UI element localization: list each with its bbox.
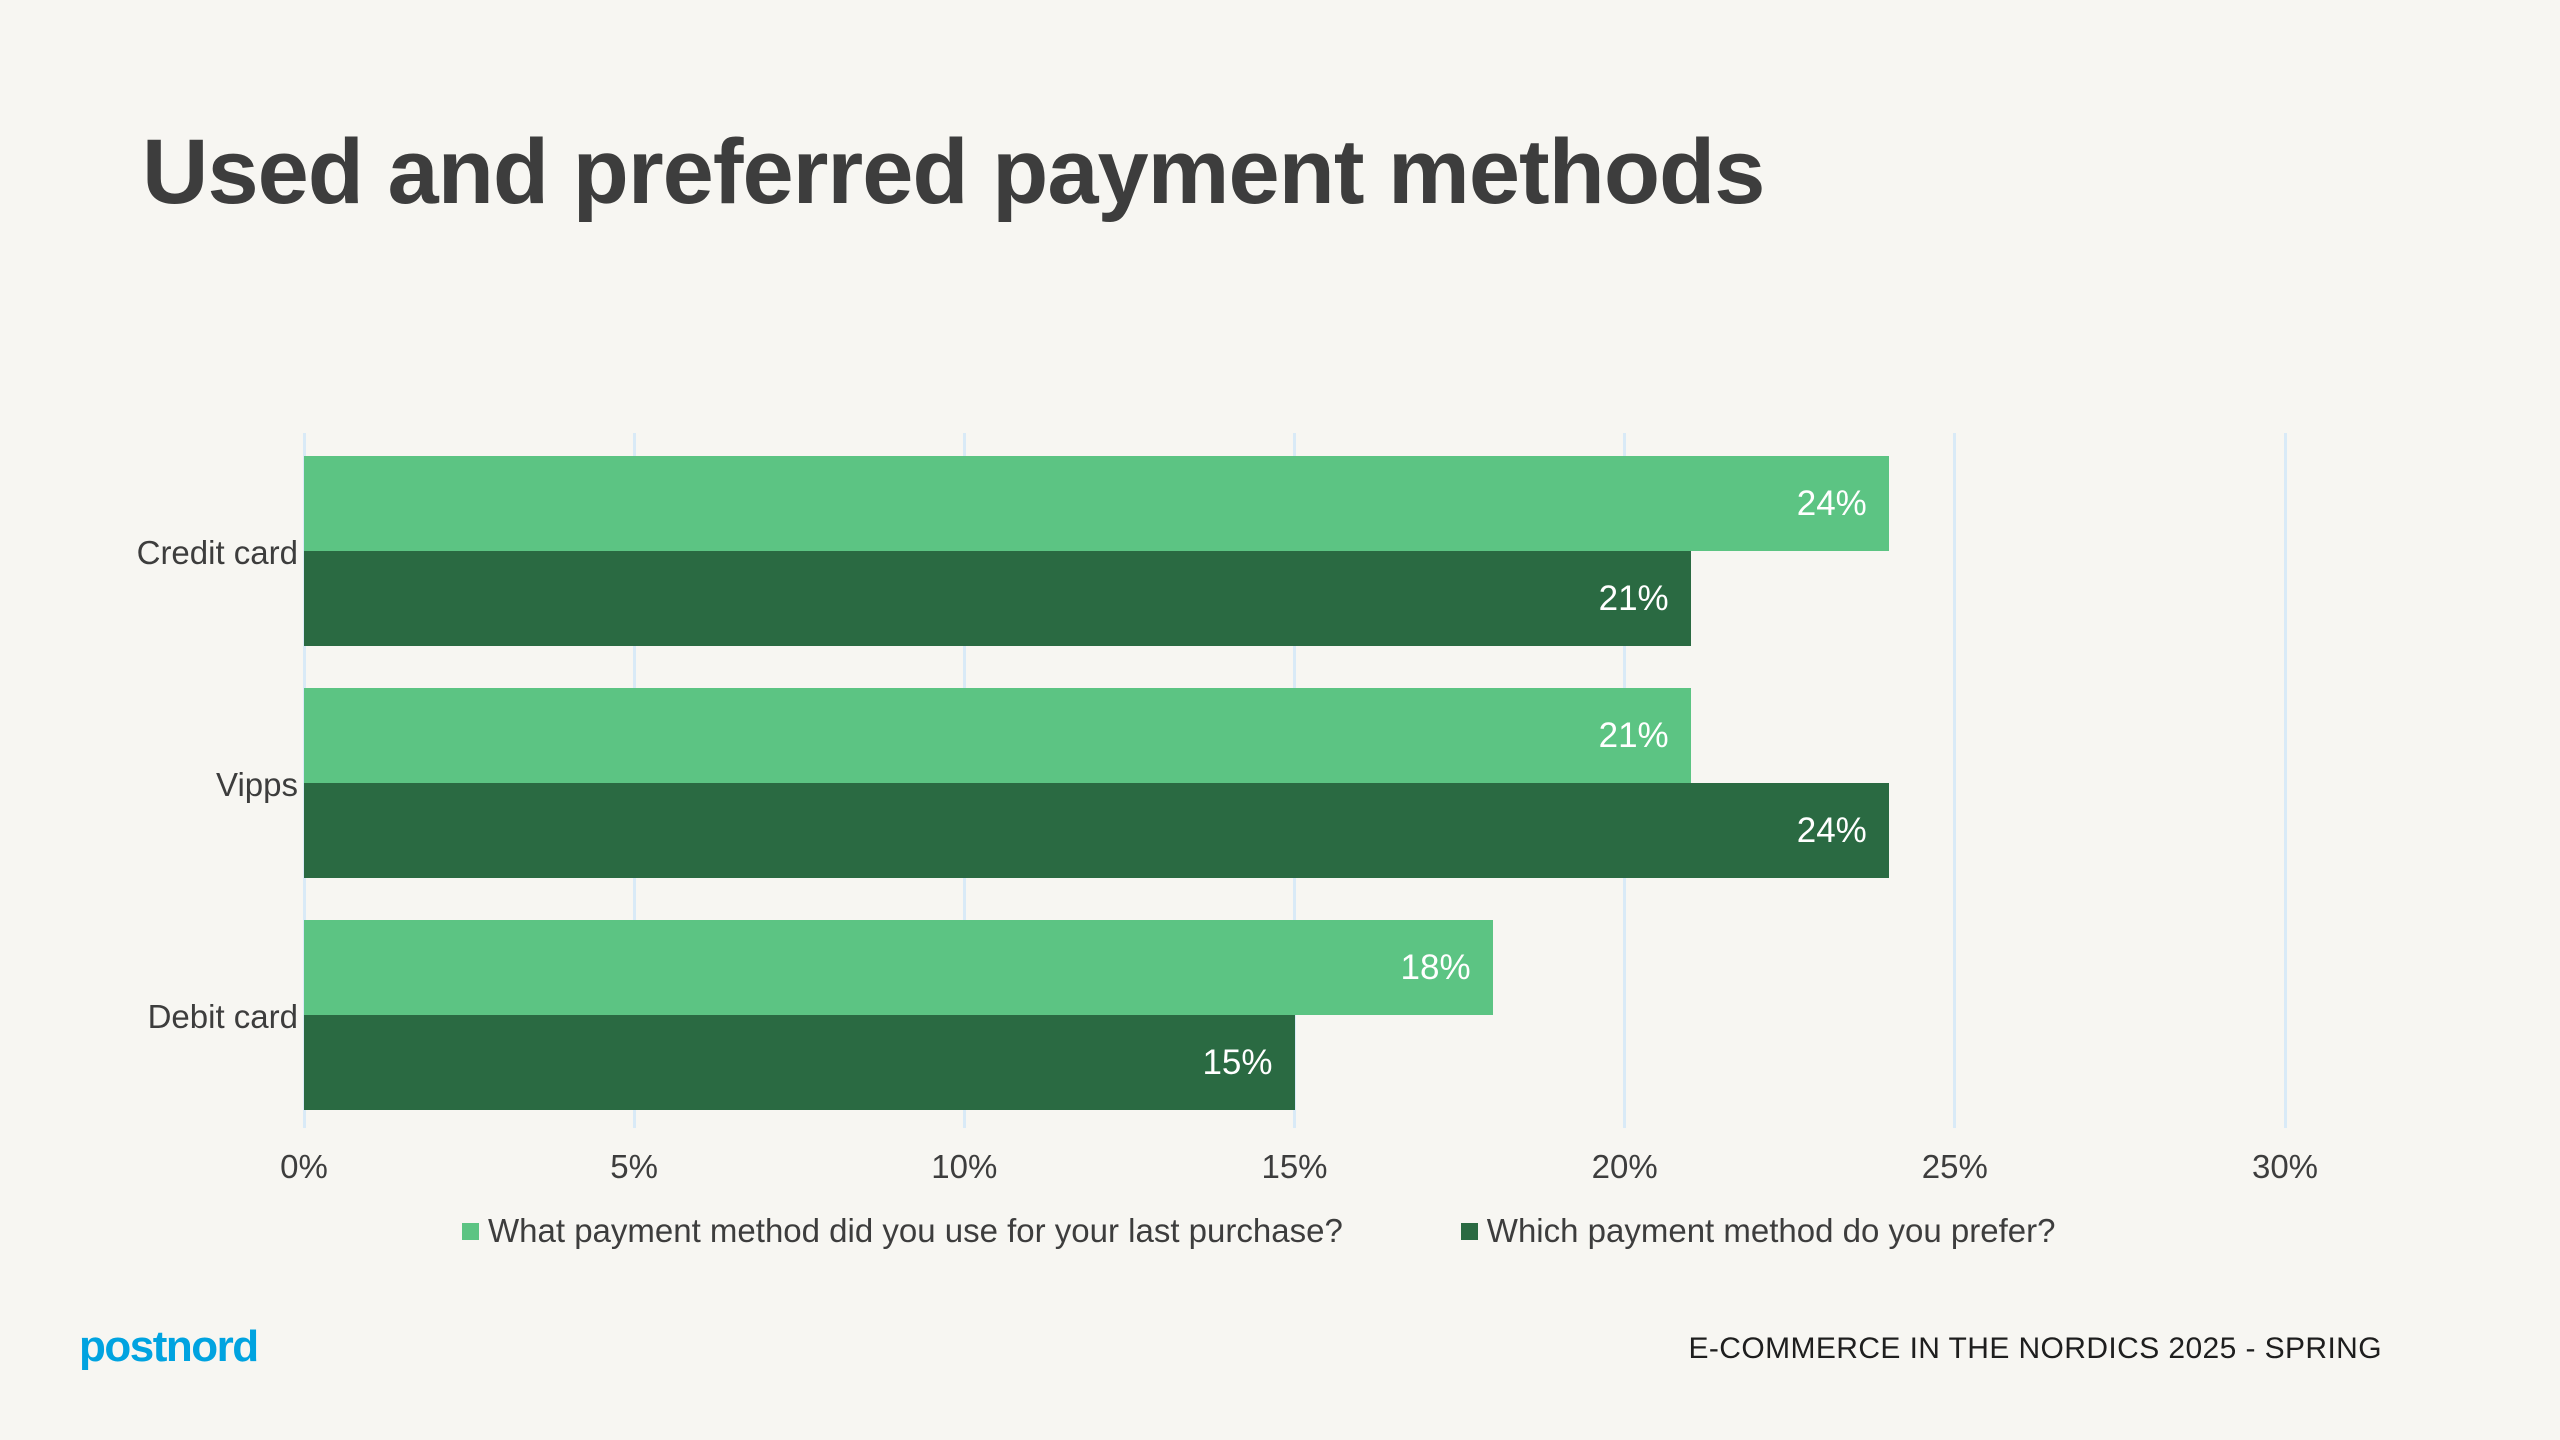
- x-tick-label: 0%: [280, 1148, 328, 1186]
- bar-used: 24%: [304, 456, 1889, 551]
- legend-item[interactable]: Which payment method do you prefer?: [1461, 1212, 2056, 1250]
- bar-used: 21%: [304, 688, 1691, 783]
- bar-preferred: 15%: [304, 1015, 1295, 1110]
- bar-value-label: 21%: [1599, 716, 1691, 756]
- legend-label: Which payment method do you prefer?: [1487, 1212, 2056, 1250]
- bar-value-label: 21%: [1599, 579, 1691, 619]
- footer-note: E-COMMERCE IN THE NORDICS 2025 - SPRING: [1689, 1332, 2383, 1366]
- bar-value-label: 24%: [1797, 811, 1889, 851]
- bar-preferred: 24%: [304, 783, 1889, 878]
- legend-item[interactable]: What payment method did you use for your…: [462, 1212, 1343, 1250]
- bar-preferred: 21%: [304, 551, 1691, 646]
- x-tick-label: 25%: [1922, 1148, 1988, 1186]
- x-tick-label: 30%: [2252, 1148, 2318, 1186]
- legend-swatch-icon: [462, 1223, 479, 1240]
- bar-value-label: 15%: [1202, 1043, 1294, 1083]
- bar-group: 18%15%: [304, 920, 2285, 1110]
- category-label: Vipps: [216, 766, 298, 804]
- bar-value-label: 24%: [1797, 484, 1889, 524]
- bar-used: 18%: [304, 920, 1493, 1015]
- x-tick-label: 20%: [1592, 1148, 1658, 1186]
- postnord-logo: postnord: [79, 1322, 258, 1372]
- category-label: Debit card: [148, 998, 298, 1036]
- bar-value-label: 18%: [1401, 948, 1493, 988]
- chart-legend: What payment method did you use for your…: [462, 1212, 2055, 1250]
- bar-group: 21%24%: [304, 688, 2285, 878]
- x-tick-label: 10%: [931, 1148, 997, 1186]
- plot-area: 24%21%21%24%18%15%: [304, 433, 2285, 1128]
- bar-group: 24%21%: [304, 456, 2285, 646]
- category-label: Credit card: [137, 534, 298, 572]
- x-tick-label: 15%: [1261, 1148, 1327, 1186]
- legend-label: What payment method did you use for your…: [488, 1212, 1343, 1250]
- legend-swatch-icon: [1461, 1223, 1478, 1240]
- x-tick-label: 5%: [610, 1148, 658, 1186]
